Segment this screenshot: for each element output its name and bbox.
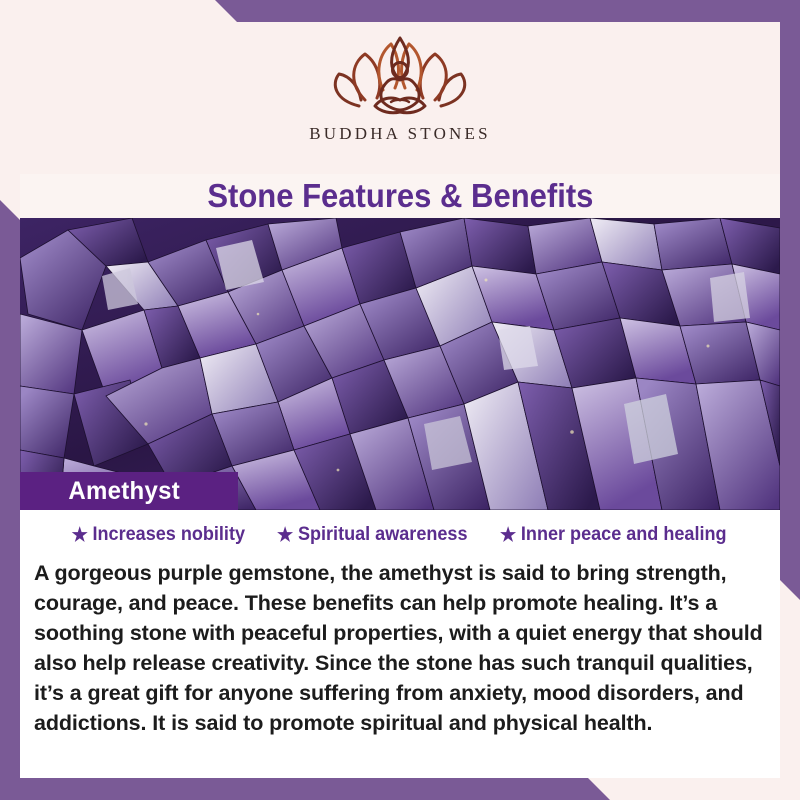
spacer xyxy=(20,738,780,778)
brand-name: BUDDHA STONES xyxy=(309,124,491,144)
brand-header: BUDDHA STONES xyxy=(20,22,780,174)
frame-accent-left xyxy=(0,200,22,778)
stone-info-card: BUDDHA STONES Stone Features & Benefits xyxy=(0,0,800,800)
content-card: BUDDHA STONES Stone Features & Benefits xyxy=(20,22,780,778)
headline-bar: Stone Features & Benefits xyxy=(20,174,780,218)
star-icon: ★ xyxy=(277,526,293,545)
description-text: A gorgeous purple gemstone, the amethyst… xyxy=(34,558,766,738)
benefit-label: Spiritual awareness xyxy=(298,524,468,546)
frame-accent-top xyxy=(0,0,800,22)
description-section: A gorgeous purple gemstone, the amethyst… xyxy=(20,552,780,738)
stone-name: Amethyst xyxy=(68,477,180,506)
benefit-label: Increases nobility xyxy=(93,524,245,546)
benefit-label: Inner peace and healing xyxy=(521,524,727,546)
stone-label-tag: Amethyst xyxy=(20,472,238,510)
benefit-item-0: ★ Increases nobility xyxy=(72,524,245,546)
benefits-list: ★ Increases nobility ★ Spiritual awarene… xyxy=(20,510,780,552)
frame-accent-right xyxy=(778,0,800,600)
amethyst-photo: Amethyst xyxy=(20,218,780,510)
lotus-meditation-icon xyxy=(325,30,475,122)
star-icon: ★ xyxy=(500,526,516,545)
benefit-item-1: ★ Spiritual awareness xyxy=(277,524,467,546)
amethyst-crystal-cluster-graphic xyxy=(20,218,780,510)
frame-accent-bottom xyxy=(0,778,800,800)
star-icon: ★ xyxy=(72,526,88,545)
page-title: Stone Features & Benefits xyxy=(207,177,593,215)
benefit-item-2: ★ Inner peace and healing xyxy=(500,524,727,546)
